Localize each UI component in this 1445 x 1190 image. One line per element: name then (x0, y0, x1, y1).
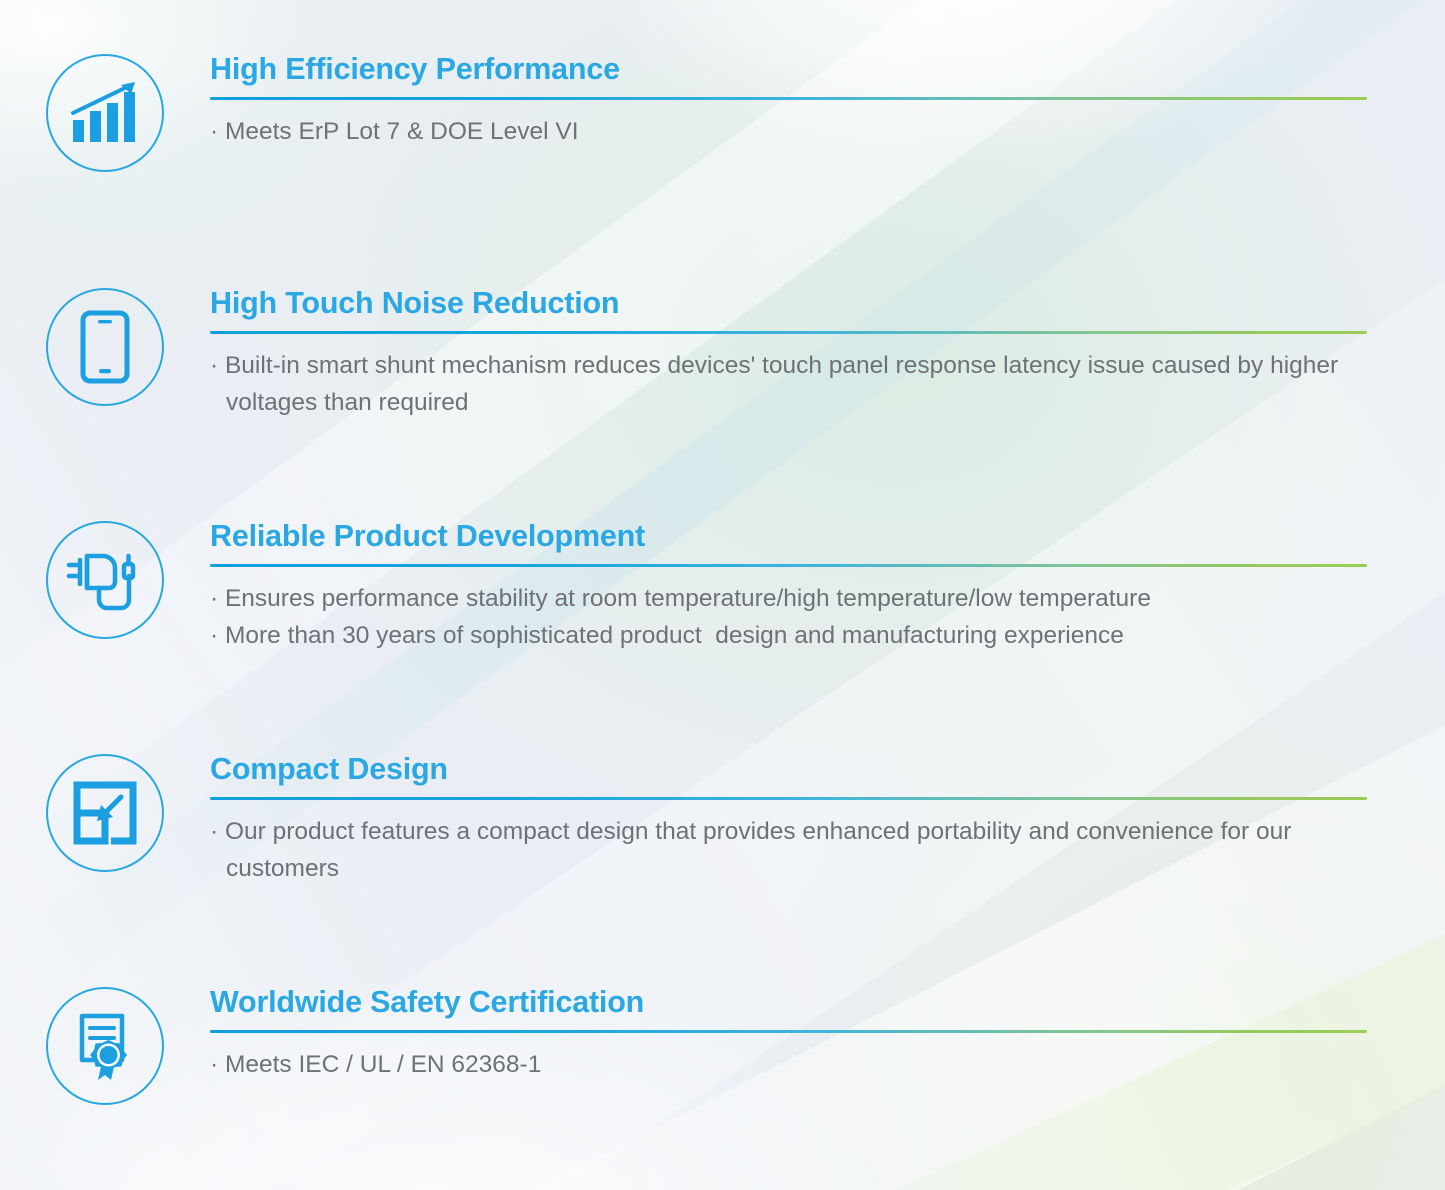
text-cell: Reliable Product Development · Ensures p… (210, 519, 1445, 654)
background-streak-e (565, 668, 1445, 1190)
certificate-seal-icon (46, 987, 164, 1105)
text-cell: Compact Design · Our product features a … (210, 752, 1445, 887)
feature-bullet: · More than 30 years of sophisticated pr… (210, 617, 1367, 654)
icon-cell (0, 52, 210, 172)
icon-cell (0, 985, 210, 1105)
feature-row-reliable-product-development: Reliable Product Development · Ensures p… (0, 519, 1445, 654)
feature-highlights-page: High Efficiency Performance · Meets ErP … (0, 0, 1445, 1190)
feature-description: · Built-in smart shunt mechanism reduces… (210, 347, 1367, 421)
feature-bullet: · Our product features a compact design … (210, 813, 1367, 887)
feature-divider (210, 331, 1367, 334)
feature-title: Compact Design (210, 752, 1367, 788)
feature-description: · Meets ErP Lot 7 & DOE Level VI (210, 113, 1367, 150)
feature-divider (210, 97, 1367, 100)
feature-bullet: · Ensures performance stability at room … (210, 580, 1367, 617)
icon-cell (0, 286, 210, 406)
feature-bullet: · Meets IEC / UL / EN 62368-1 (210, 1046, 1367, 1083)
icon-cell (0, 752, 210, 872)
feature-row-worldwide-safety-certification: Worldwide Safety Certification · Meets I… (0, 985, 1445, 1105)
feature-description: · Our product features a compact design … (210, 813, 1367, 887)
feature-row-high-touch-noise-reduction: High Touch Noise Reduction · Built-in sm… (0, 286, 1445, 421)
feature-divider (210, 1030, 1367, 1033)
feature-bullet: · Meets ErP Lot 7 & DOE Level VI (210, 113, 1367, 150)
smartphone-icon (46, 288, 164, 406)
power-adapter-icon (46, 521, 164, 639)
feature-row-compact-design: Compact Design · Our product features a … (0, 752, 1445, 887)
feature-divider (210, 564, 1367, 567)
icon-cell (0, 519, 210, 639)
feature-description: · Ensures performance stability at room … (210, 580, 1367, 654)
feature-title: Worldwide Safety Certification (210, 985, 1367, 1021)
feature-divider (210, 797, 1367, 800)
text-cell: High Touch Noise Reduction · Built-in sm… (210, 286, 1445, 421)
feature-row-high-efficiency-performance: High Efficiency Performance · Meets ErP … (0, 52, 1445, 172)
feature-title: Reliable Product Development (210, 519, 1367, 555)
text-cell: High Efficiency Performance · Meets ErP … (210, 52, 1445, 150)
feature-description: · Meets IEC / UL / EN 62368-1 (210, 1046, 1367, 1083)
compact-resize-icon (46, 754, 164, 872)
bar-chart-growth-icon (46, 54, 164, 172)
feature-title: High Touch Noise Reduction (210, 286, 1367, 322)
text-cell: Worldwide Safety Certification · Meets I… (210, 985, 1445, 1083)
feature-title: High Efficiency Performance (210, 52, 1367, 88)
feature-bullet: · Built-in smart shunt mechanism reduces… (210, 347, 1367, 421)
